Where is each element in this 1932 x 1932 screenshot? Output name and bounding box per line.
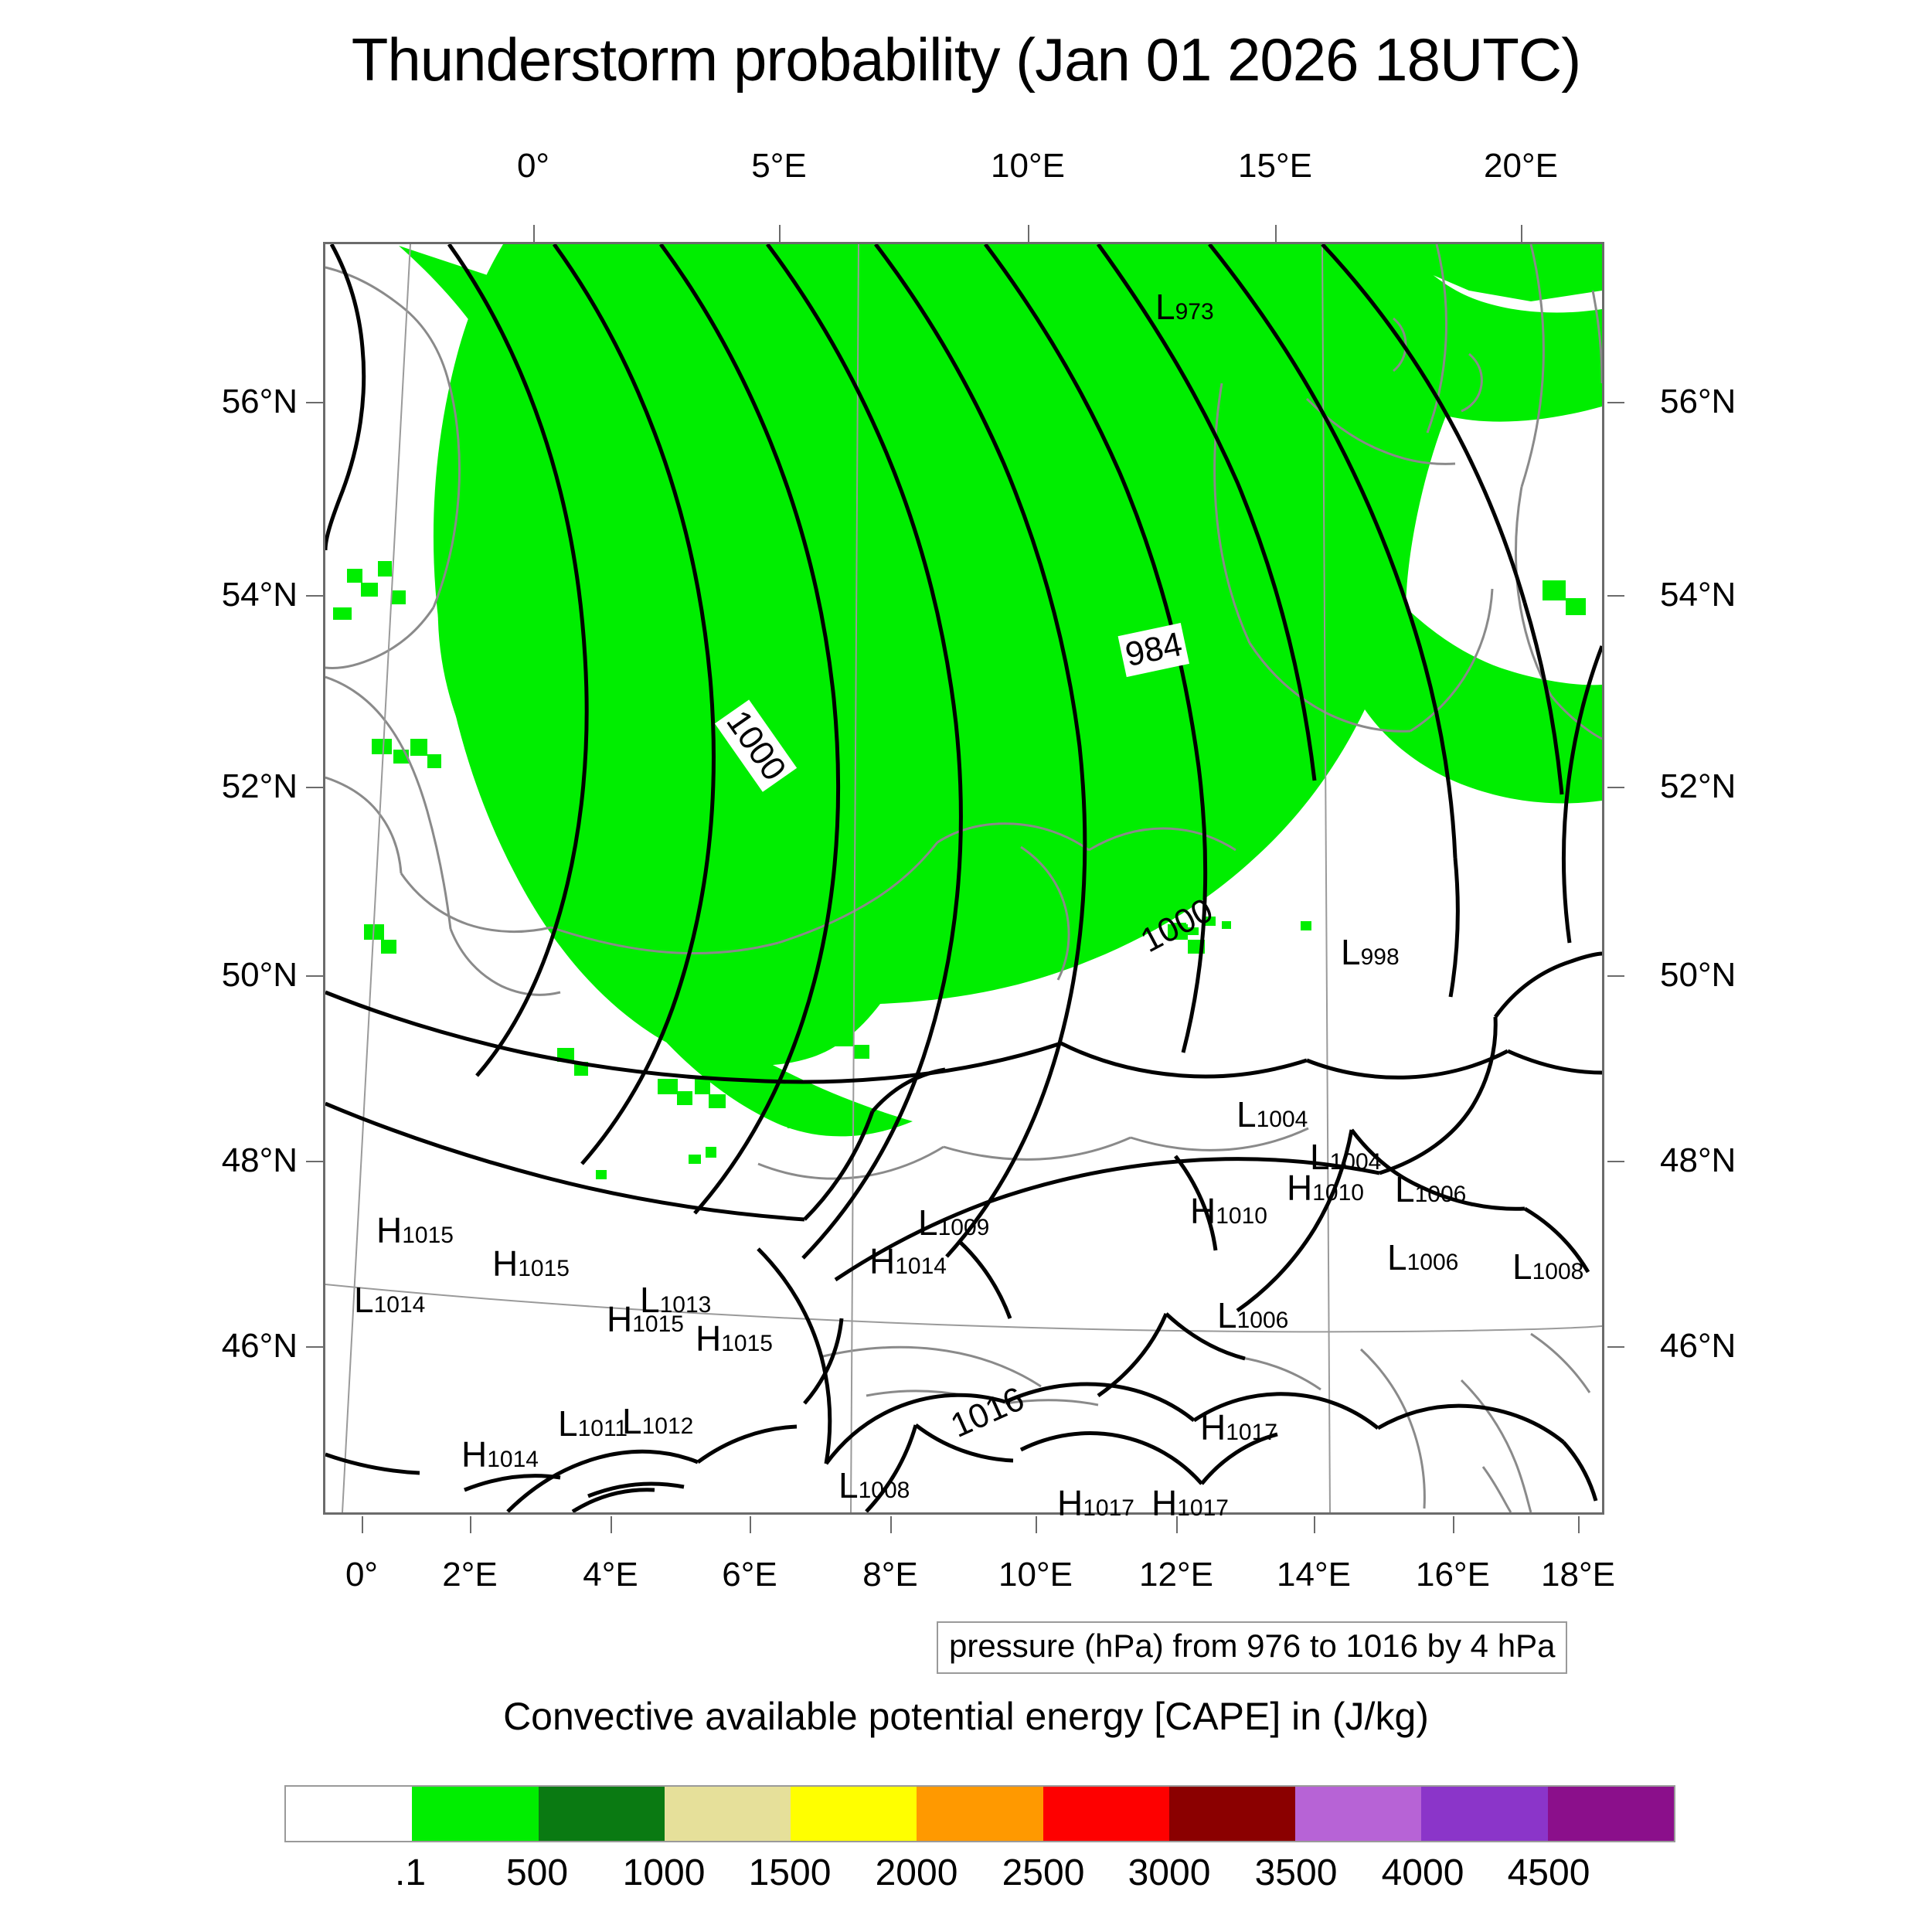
colorbar-segment-4	[791, 1787, 917, 1841]
colorbar-tick-4: 2000	[876, 1852, 958, 1894]
marker-value: 973	[1175, 299, 1214, 325]
marker-value: 1008	[1532, 1259, 1584, 1284]
pressure-center-low-1008-a: L1008	[1512, 1246, 1583, 1287]
colorbar-segment-6	[1043, 1787, 1169, 1841]
lon-label-bottom-0: 0°	[345, 1556, 378, 1594]
lat-label-right-54: 54°N	[1660, 576, 1736, 614]
lat-tick-left-50	[306, 975, 323, 977]
colorbar-tick-2: 1000	[623, 1852, 706, 1894]
lat-label-left-54: 54°N	[174, 576, 298, 614]
map-plot-area: 984 1000 1000 1016	[323, 242, 1604, 1515]
marker-type: L	[918, 1202, 938, 1243]
colorbar-segment-7	[1169, 1787, 1295, 1841]
marker-type: H	[376, 1210, 402, 1250]
lat-label-right-56: 56°N	[1660, 383, 1736, 421]
lon-tick-bottom-2	[470, 1516, 471, 1533]
marker-value: 1014	[895, 1253, 947, 1279]
lon-label-bottom-12: 12°E	[1139, 1556, 1213, 1594]
lat-label-right-48: 48°N	[1660, 1141, 1736, 1180]
marker-type: L	[1387, 1237, 1407, 1277]
marker-type: L	[1512, 1247, 1532, 1287]
colorbar-title: Convective available potential energy [C…	[0, 1694, 1932, 1739]
pressure-center-high-1010-b: H1010	[1190, 1190, 1267, 1232]
lat-label-left-50: 50°N	[174, 956, 298, 995]
lon-tick-bottom-0	[362, 1516, 363, 1533]
pressure-center-low-1008-b: L1008	[838, 1464, 910, 1506]
marker-value: 1015	[518, 1256, 570, 1281]
pressure-center-high-1010-a: H1010	[1287, 1167, 1364, 1209]
marker-type: H	[607, 1299, 632, 1339]
pressure-center-high-1015-a: H1015	[376, 1209, 454, 1251]
lat-label-left-56: 56°N	[174, 383, 298, 421]
marker-type: L	[1395, 1169, 1415, 1209]
marker-value: 1017	[1083, 1495, 1134, 1521]
page-title: Thunderstorm probability (Jan 01 2026 18…	[0, 25, 1932, 95]
colorbar-tick-labels: .1 500 1000 1500 2000 2500 3000 3500 400…	[284, 1852, 1675, 1906]
lon-tick-bottom-16	[1453, 1516, 1454, 1533]
marker-value: 1006	[1415, 1182, 1467, 1207]
pressure-center-high-1017-b: H1017	[1151, 1482, 1229, 1524]
colorbar-segment-3	[665, 1787, 791, 1841]
pressure-center-low-1011: L1011	[558, 1403, 628, 1444]
lon-tick-bottom-6	[750, 1516, 751, 1533]
lon-label-bottom-10: 10°E	[998, 1556, 1073, 1594]
map-canvas	[325, 244, 1602, 1512]
pressure-range-note: pressure (hPa) from 976 to 1016 by 4 hPa	[937, 1621, 1567, 1674]
pressure-center-low-1009: L1009	[918, 1202, 989, 1243]
pressure-center-low-973: L973	[1155, 286, 1214, 328]
lon-tick-bottom-10	[1036, 1516, 1037, 1533]
lon-label-top-20: 20°E	[1484, 147, 1558, 185]
colorbar-segment-8	[1295, 1787, 1421, 1841]
lon-label-bottom-6: 6°E	[722, 1556, 777, 1594]
colorbar-tick-0: .1	[395, 1852, 426, 1894]
colorbar-segment-0	[286, 1787, 412, 1841]
marker-type: H	[696, 1318, 721, 1359]
lat-tick-left-52	[306, 787, 323, 788]
colorbar-segment-9	[1421, 1787, 1547, 1841]
lon-tick-top-20	[1521, 225, 1522, 242]
pressure-center-high-1015-d: H1015	[696, 1318, 773, 1359]
marker-type: H	[1287, 1168, 1312, 1208]
lon-label-top-15: 15°E	[1238, 147, 1312, 185]
lat-label-left-48: 48°N	[174, 1141, 298, 1180]
marker-value: 1010	[1216, 1203, 1267, 1229]
lon-label-bottom-14: 14°E	[1277, 1556, 1351, 1594]
marker-type: H	[1151, 1483, 1177, 1523]
lon-label-bottom-16: 16°E	[1416, 1556, 1490, 1594]
pressure-center-high-1014-b: H1014	[461, 1434, 539, 1475]
marker-value: 1010	[1312, 1180, 1364, 1206]
pressure-center-low-1006-c: L1006	[1395, 1168, 1466, 1210]
colorbar-segment-10	[1548, 1787, 1674, 1841]
marker-value: 1017	[1177, 1495, 1229, 1521]
marker-value: 1009	[938, 1215, 990, 1240]
colorbar-segment-2	[539, 1787, 665, 1841]
lat-label-right-50: 50°N	[1660, 956, 1736, 995]
lon-tick-top-0	[533, 225, 535, 242]
lat-tick-left-56	[306, 402, 323, 403]
marker-value: 1014	[487, 1447, 539, 1472]
lon-tick-bottom-12	[1176, 1516, 1178, 1533]
colorbar-tick-8: 4000	[1382, 1852, 1464, 1894]
pressure-center-low-998: L998	[1341, 931, 1400, 973]
lat-tick-right-54	[1607, 595, 1624, 597]
colorbar-tick-1: 500	[506, 1852, 568, 1894]
lon-label-top-10: 10°E	[991, 147, 1065, 185]
marker-type: L	[622, 1401, 642, 1441]
marker-value: 1004	[1257, 1107, 1308, 1132]
marker-value: 1013	[660, 1292, 712, 1318]
marker-value: 1008	[859, 1478, 910, 1503]
lat-tick-right-56	[1607, 402, 1624, 403]
marker-value: 1014	[374, 1292, 426, 1318]
lat-label-left-46: 46°N	[174, 1327, 298, 1366]
lon-label-bottom-18: 18°E	[1541, 1556, 1615, 1594]
marker-value: 1006	[1407, 1250, 1459, 1275]
pressure-center-low-1006-b: L1006	[1217, 1294, 1288, 1336]
marker-type: L	[1217, 1295, 1237, 1335]
lon-label-bottom-4: 4°E	[583, 1556, 638, 1594]
marker-type: H	[1190, 1191, 1216, 1231]
colorbar-tick-3: 1500	[749, 1852, 832, 1894]
lat-tick-right-50	[1607, 975, 1624, 977]
lat-label-left-52: 52°N	[174, 767, 298, 806]
lat-tick-right-46	[1607, 1346, 1624, 1348]
pressure-center-high-1015-b: H1015	[492, 1243, 570, 1284]
marker-type: H	[492, 1243, 518, 1284]
plot-frame: 984 1000 1000 1016	[323, 242, 1604, 1515]
marker-type: L	[640, 1280, 660, 1320]
marker-value: 1012	[642, 1413, 694, 1439]
lon-tick-bottom-18	[1578, 1516, 1580, 1533]
marker-type: L	[354, 1280, 374, 1320]
lat-tick-right-52	[1607, 787, 1624, 788]
marker-value: 1015	[721, 1331, 773, 1356]
lat-tick-left-46	[306, 1346, 323, 1348]
marker-type: L	[558, 1403, 578, 1444]
colorbar-tick-9: 4500	[1508, 1852, 1590, 1894]
colorbar-tick-7: 3500	[1255, 1852, 1338, 1894]
lat-tick-left-54	[306, 595, 323, 597]
marker-value: 998	[1361, 944, 1400, 970]
pressure-center-high-1017-c: H1017	[1200, 1406, 1277, 1448]
lon-tick-bottom-8	[890, 1516, 892, 1533]
chart-root: Thunderstorm probability (Jan 01 2026 18…	[0, 0, 1932, 1932]
lon-tick-bottom-4	[611, 1516, 612, 1533]
colorbar-segment-1	[412, 1787, 538, 1841]
lon-label-top-5: 5°E	[751, 147, 806, 185]
marker-value: 1015	[402, 1223, 454, 1248]
lon-label-top-0: 0°	[517, 147, 549, 185]
lat-label-right-46: 46°N	[1660, 1327, 1736, 1366]
pressure-center-high-1017-a: H1017	[1057, 1482, 1134, 1524]
colorbar-tick-6: 3000	[1128, 1852, 1211, 1894]
cape-colorbar	[284, 1785, 1675, 1842]
pressure-center-low-1013: L1013	[640, 1279, 711, 1321]
lon-label-bottom-2: 2°E	[442, 1556, 497, 1594]
pressure-center-low-1006-a: L1006	[1387, 1236, 1458, 1278]
marker-type: H	[869, 1241, 895, 1281]
lon-tick-top-15	[1275, 225, 1277, 242]
pressure-center-low-1014: L1014	[354, 1279, 425, 1321]
pressure-center-low-1012: L1012	[622, 1400, 693, 1442]
marker-type: L	[1236, 1094, 1257, 1134]
marker-value: 1017	[1226, 1420, 1277, 1445]
marker-value: 1011	[578, 1416, 628, 1441]
lon-tick-top-5	[779, 225, 781, 242]
pressure-center-low-1004-a: L1004	[1236, 1094, 1308, 1135]
colorbar-tick-5: 2500	[1002, 1852, 1085, 1894]
marker-type: H	[1200, 1407, 1226, 1447]
pressure-center-high-1014-a: H1014	[869, 1240, 947, 1282]
marker-type: L	[1341, 932, 1361, 972]
marker-type: H	[1057, 1483, 1083, 1523]
lon-tick-bottom-14	[1314, 1516, 1315, 1533]
lat-label-right-52: 52°N	[1660, 767, 1736, 806]
colorbar-segment-5	[917, 1787, 1043, 1841]
marker-type: L	[1155, 287, 1175, 327]
lat-tick-right-48	[1607, 1161, 1624, 1162]
marker-type: H	[461, 1434, 487, 1475]
marker-type: L	[838, 1465, 859, 1505]
lat-tick-left-48	[306, 1161, 323, 1162]
marker-value: 1006	[1237, 1308, 1289, 1333]
lon-label-bottom-8: 8°E	[862, 1556, 917, 1594]
lon-tick-top-10	[1028, 225, 1029, 242]
